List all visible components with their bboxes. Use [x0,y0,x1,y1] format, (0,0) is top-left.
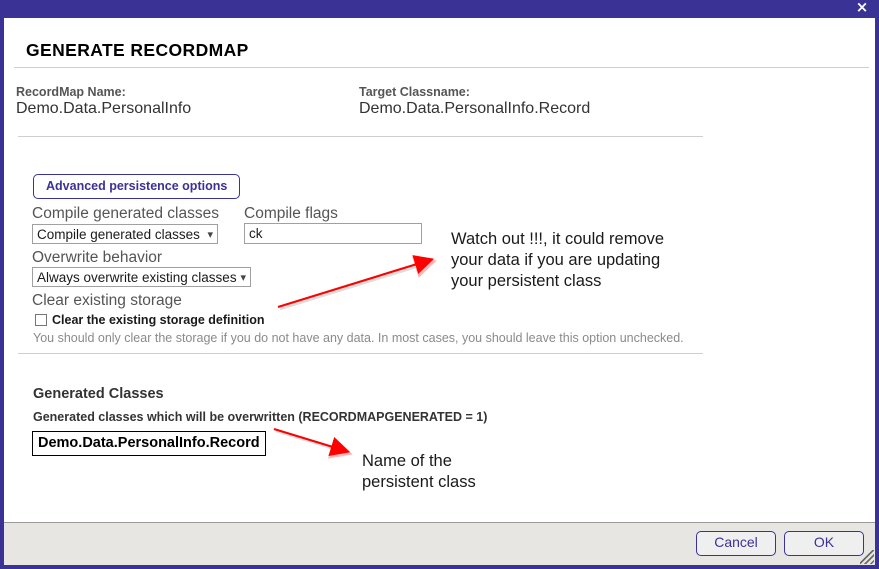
overwrite-behavior-select[interactable]: Always overwrite existing classes ▾ [32,267,251,287]
dialog-footer: Cancel OK [4,522,875,565]
target-classname-value: Demo.Data.PersonalInfo.Record [359,100,590,118]
annotation-class-note: Name of the persistent class [362,451,476,493]
cancel-button[interactable]: Cancel [696,531,776,556]
recordmap-name-value: Demo.Data.PersonalInfo [16,100,191,118]
overwrite-behavior-value: Always overwrite existing classes [37,270,237,285]
compile-generated-classes-select[interactable]: Compile generated classes ▾ [32,224,218,244]
recordmap-name-label: RecordMap Name: [16,85,126,99]
compile-generated-classes-label: Compile generated classes [32,205,219,223]
chevron-down-icon: ▾ [240,270,246,285]
generated-classes-heading: Generated Classes [33,386,164,402]
compile-flags-input[interactable] [244,223,422,244]
clear-storage-help-text: You should only clear the storage if you… [33,331,684,345]
dialog-body: GENERATE RECORDMAP RecordMap Name: Demo.… [4,18,875,522]
arrow-to-generated-class [274,429,346,451]
generated-class-name[interactable]: Demo.Data.PersonalInfo.Record [32,431,266,456]
clear-storage-checkbox-row[interactable]: Clear the existing storage definition [35,313,265,327]
arrow-to-clear-storage [278,260,430,307]
generated-classes-subheading: Generated classes which will be overwrit… [33,410,487,424]
divider-middle-upper [18,136,703,137]
generate-recordmap-dialog: × GENERATE RECORDMAP RecordMap Name: Dem… [0,0,879,569]
compile-generated-classes-value: Compile generated classes [37,227,200,242]
divider-middle-lower [18,353,703,354]
compile-flags-label: Compile flags [244,205,338,223]
close-icon[interactable]: × [853,0,871,17]
advanced-persistence-options-button[interactable]: Advanced persistence options [33,174,240,199]
target-classname-label: Target Classname: [359,85,470,99]
chevron-down-icon: ▾ [207,227,213,242]
title-bar: × [4,0,875,18]
resize-grip-icon[interactable] [860,550,874,564]
annotation-warning: Watch out !!!, it could remove your data… [451,229,664,292]
ok-button[interactable]: OK [784,531,864,556]
clear-storage-checkbox[interactable] [35,314,47,326]
clear-existing-storage-label: Clear existing storage [32,292,182,310]
overwrite-behavior-label: Overwrite behavior [32,249,162,267]
clear-storage-checkbox-label: Clear the existing storage definition [52,313,265,327]
page-title: GENERATE RECORDMAP [26,40,249,61]
divider-top [14,67,869,68]
